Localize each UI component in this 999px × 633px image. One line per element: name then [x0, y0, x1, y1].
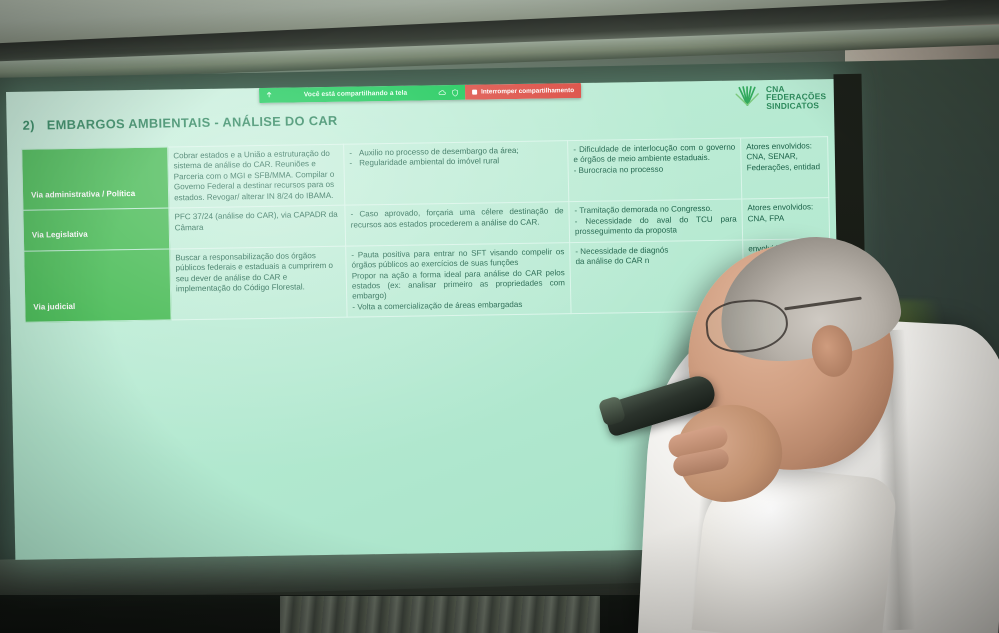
slide-title-row: 2) EMBARGOS AMBIENTAIS - ANÁLISE DO CAR: [23, 113, 338, 133]
wheat-leaf-icon: [734, 84, 761, 111]
sharing-status: Você está compartilhando a tela: [259, 85, 465, 103]
row-actions-administrativa: Cobrar estados e a União a estruturação …: [168, 144, 345, 208]
photo-scene: Você está compartilhando a tela Interrom…: [0, 0, 999, 633]
row-benefits-judicial: - Pauta positiva para entrar no SFT visa…: [346, 242, 571, 317]
stop-sharing-label: Interromper compartilhamento: [481, 87, 574, 95]
list-item-text: da análise do CAR n: [575, 255, 737, 268]
list-item-text: - Caso aprovado, forçaria uma célere des…: [350, 207, 563, 231]
row-label-legislativa: Via Legislativa: [23, 208, 170, 251]
list-item-text: Propor na ação a forma ideal para anális…: [352, 268, 566, 303]
row-label-administrativa: Via administrativa / Política: [22, 147, 169, 211]
sharing-status-text: Você está compartilhando a tela: [278, 89, 433, 98]
list-item-text: - Volta a comercialização de áreas embar…: [352, 299, 565, 313]
row-actors-administrativa: Atores envolvidos: CNA, SENAR, Federaçõe…: [741, 137, 829, 200]
cna-logo-text: CNA FEDERAÇÕES SINDICATOS: [766, 84, 827, 111]
row-difficulties-legislativa: - Tramitação demorada no Congresso. - Ne…: [569, 199, 743, 242]
share-screen-icon: [265, 91, 273, 99]
list-item-text: - Necessidade do aval do TCU para prosse…: [575, 214, 737, 237]
list-item-text: - Burocracia no processo: [574, 163, 736, 176]
shield-icon[interactable]: [451, 88, 459, 96]
slide-title: EMBARGOS AMBIENTAIS - ANÁLISE DO CAR: [47, 113, 338, 133]
glass-wall-panel: [280, 596, 600, 633]
row-difficulties-administrativa: - Dificuldade de interlocução com o gove…: [568, 138, 742, 202]
list-item-text: - Dificuldade de interlocução com o gove…: [573, 143, 735, 166]
row-label-judicial: Via judicial: [24, 249, 171, 323]
row-actors-legislativa: Atores envolvidos: CNA, FPA: [742, 198, 830, 240]
list-item: - Regularidade ambiental do imóvel rural: [349, 156, 562, 170]
row-benefits-administrativa: - Auxilio no processo de desembargo da á…: [344, 141, 569, 206]
stop-square-icon: [472, 90, 477, 95]
cna-logo: CNA FEDERAÇÕES SINDICATOS: [734, 83, 827, 111]
cloud-icon: [438, 89, 446, 97]
dash-bullet-icon: -: [349, 159, 352, 169]
row-benefits-legislativa: - Caso aprovado, forçaria uma célere des…: [345, 202, 570, 246]
dash-bullet-icon: -: [349, 149, 352, 159]
slide-title-number: 2): [23, 118, 35, 133]
row-actions-judicial: Buscar a responsabilização dos órgãos pú…: [170, 246, 347, 320]
row-actions-legislativa: PFC 37/24 (análise do CAR), via CAPADR d…: [169, 205, 346, 248]
logo-line-3: SINDICATOS: [766, 101, 826, 111]
stop-sharing-button[interactable]: Interromper compartilhamento: [465, 83, 581, 100]
list-item-text: Regularidade ambiental do imóvel rural: [359, 156, 562, 170]
